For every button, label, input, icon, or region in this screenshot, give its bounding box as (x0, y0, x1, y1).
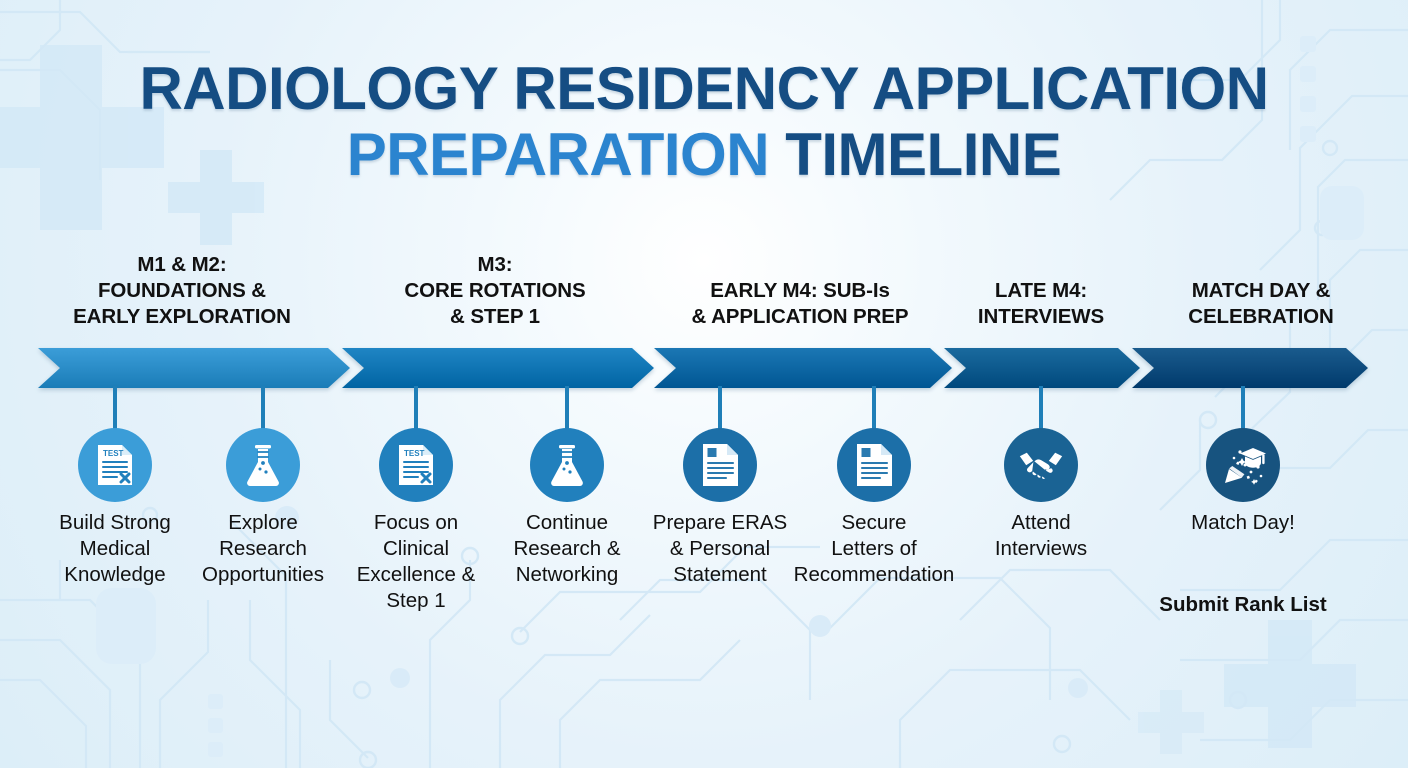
svg-text:TEST: TEST (404, 449, 425, 458)
milestone-caption-line: Excellence & (357, 562, 476, 588)
medical-cross-icon (1268, 620, 1312, 748)
phase-label-early-m4: EARLY M4: SUB-Is & APPLICATION PREP (655, 278, 945, 330)
test-document-icon: TEST (396, 443, 436, 487)
title-line-2: PREPARATION TIMELINE (0, 124, 1408, 186)
milestone-caption-line: Letters of (794, 536, 955, 562)
graduation-confetti-icon (1220, 443, 1266, 487)
milestone-caption-line: Submit Rank List (1159, 592, 1326, 618)
milestone-caption: Focus onClinicalExcellence &Step 1 (357, 510, 476, 614)
chevron-shape (654, 348, 952, 388)
phase-label-m3: M3: CORE ROTATIONS & STEP 1 (345, 252, 645, 329)
flask-icon (243, 443, 283, 487)
milestone-caption-line: Knowledge (59, 562, 171, 588)
milestone-caption-line: Focus on (357, 510, 476, 536)
milestone-caption-line: Build Strong (59, 510, 171, 536)
milestone-caption-line: Attend (995, 510, 1087, 536)
milestone-caption: AttendInterviews (995, 510, 1087, 562)
medical-cross-icon (1160, 690, 1182, 754)
milestone-icon-circle[interactable] (1206, 428, 1280, 502)
milestone-caption: Build StrongMedicalKnowledge (59, 510, 171, 588)
milestone-icon-circle[interactable] (837, 428, 911, 502)
milestone-caption: ExploreResearchOpportunities (202, 510, 324, 588)
test-document-icon: TEST (95, 443, 135, 487)
milestone-caption-line: Interviews (995, 536, 1087, 562)
chevron-shape (38, 348, 350, 388)
milestone-caption-line: Research (202, 536, 324, 562)
milestone-caption-line: Explore (202, 510, 324, 536)
milestone-caption-line: Opportunities (202, 562, 324, 588)
milestone-connector-line (872, 386, 876, 432)
milestone-caption-line: Match Day! (1191, 510, 1295, 536)
infographic-canvas: RADIOLOGY RESIDENCY APPLICATION PREPARAT… (0, 0, 1408, 768)
milestone-connector-line (113, 386, 117, 432)
page-title: RADIOLOGY RESIDENCY APPLICATION PREPARAT… (0, 58, 1408, 187)
milestone-connector-line (718, 386, 722, 432)
phase-label-m1-m2: M1 & M2: FOUNDATIONS & EARLY EXPLORATION (22, 252, 342, 329)
document-icon (700, 442, 740, 488)
milestone-caption-line: Research & (513, 536, 620, 562)
svg-text:TEST: TEST (103, 449, 124, 458)
milestone-caption-line: Prepare ERAS (653, 510, 787, 536)
milestone-icon-circle[interactable]: TEST (78, 428, 152, 502)
milestone-caption-line: Medical (59, 536, 171, 562)
chevron-shape (1132, 348, 1368, 388)
milestone-caption-line: Secure (794, 510, 955, 536)
milestone-connector-line (1039, 386, 1043, 432)
milestone-caption: Match Day! (1191, 510, 1295, 536)
timeline-segment-early-m4[interactable] (654, 348, 952, 388)
milestone-caption-line: Step 1 (357, 588, 476, 614)
milestone-icon-circle[interactable]: TEST (379, 428, 453, 502)
flask-icon (547, 443, 587, 487)
milestone-caption-line: Clinical (357, 536, 476, 562)
milestone-icon-circle[interactable] (226, 428, 300, 502)
milestone-connector-line (261, 386, 265, 432)
milestone-caption: ContinueResearch &Networking (513, 510, 620, 588)
milestone-caption-secondary: Submit Rank List (1159, 592, 1326, 618)
title-plain-word: TIMELINE (769, 121, 1061, 188)
document-icon (854, 442, 894, 488)
title-accent-word: PREPARATION (347, 121, 769, 188)
title-line-1: RADIOLOGY RESIDENCY APPLICATION (0, 58, 1408, 120)
timeline-segment-m1-m2[interactable] (38, 348, 350, 388)
milestone-caption: Prepare ERAS& PersonalStatement (653, 510, 787, 588)
milestone-icon-circle[interactable] (530, 428, 604, 502)
phase-label-late-m4: LATE M4: INTERVIEWS (948, 278, 1134, 330)
milestone-connector-line (565, 386, 569, 432)
milestone-caption-line: Statement (653, 562, 787, 588)
chevron-shape (944, 348, 1140, 388)
milestone-caption-line: & Personal (653, 536, 787, 562)
timeline-arrow-band (38, 348, 1368, 388)
handshake-icon (1017, 448, 1065, 482)
milestone-icon-circle[interactable] (1004, 428, 1078, 502)
milestone-icon-circle[interactable] (683, 428, 757, 502)
milestone-caption-line: Continue (513, 510, 620, 536)
timeline-segment-late-m4[interactable] (944, 348, 1140, 388)
chevron-shape (342, 348, 654, 388)
timeline-segment-m3[interactable] (342, 348, 654, 388)
milestone-connector-line (1241, 386, 1245, 432)
milestone-caption-line: Networking (513, 562, 620, 588)
milestone-caption-line: Recommendation (794, 562, 955, 588)
timeline-segment-match-day[interactable] (1132, 348, 1368, 388)
phase-label-match-day: MATCH DAY & CELEBRATION (1136, 278, 1386, 330)
milestone-caption: SecureLetters ofRecommendation (794, 510, 955, 588)
milestone-connector-line (414, 386, 418, 432)
